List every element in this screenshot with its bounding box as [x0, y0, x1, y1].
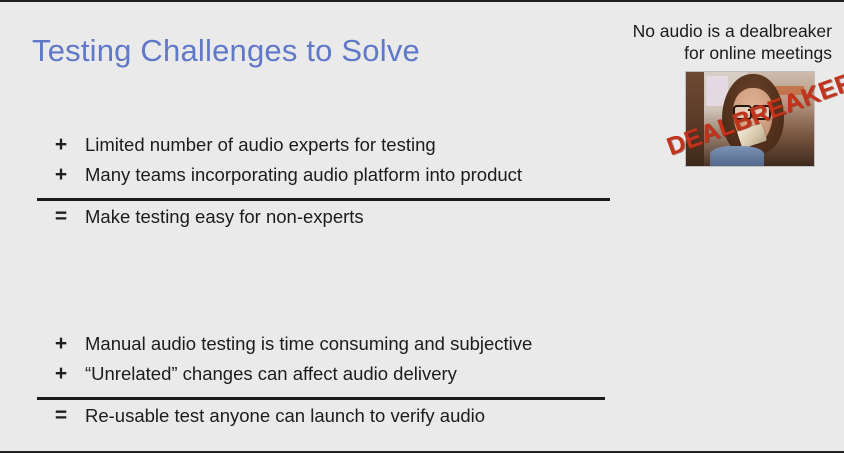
dealbreaker-photo-block: DEALBREAKER	[686, 72, 814, 166]
caption-line-1: No audio is a dealbreaker	[532, 20, 832, 42]
equation-row: + “Unrelated” changes can affect audio d…	[37, 362, 605, 392]
equation-result-row: = Make testing easy for non-experts	[37, 205, 610, 235]
plus-operator-icon: +	[37, 163, 85, 187]
plus-operator-icon: +	[37, 362, 85, 386]
caption-line-2: for online meetings	[532, 42, 832, 64]
plus-operator-icon: +	[37, 133, 85, 157]
challenge-equation-1: + Limited number of audio experts for te…	[37, 133, 610, 235]
equation-row-text: Many teams incorporating audio platform …	[85, 164, 522, 186]
equation-result-row: = Re-usable test anyone can launch to ve…	[37, 404, 605, 434]
plus-operator-icon: +	[37, 332, 85, 356]
equation-divider	[37, 397, 605, 400]
equation-row: + Limited number of audio experts for te…	[37, 133, 610, 163]
photo-shoulder	[710, 146, 764, 166]
woman-with-glasses-photo	[686, 72, 814, 166]
equation-divider	[37, 198, 610, 201]
presentation-slide: Testing Challenges to Solve No audio is …	[0, 0, 844, 453]
equals-operator-icon: =	[37, 404, 85, 428]
equation-row-text: “Unrelated” changes can affect audio del…	[85, 363, 457, 385]
challenge-equation-2: + Manual audio testing is time consuming…	[37, 332, 605, 434]
equation-row-text: Limited number of audio experts for test…	[85, 134, 436, 156]
glasses-bridge-icon	[748, 109, 752, 111]
glasses-right-lens-icon	[752, 105, 771, 120]
equation-row: + Manual audio testing is time consuming…	[37, 332, 605, 362]
equation-row-text: Manual audio testing is time consuming a…	[85, 333, 532, 355]
equation-result-text: Re-usable test anyone can launch to veri…	[85, 405, 485, 427]
page-title: Testing Challenges to Solve	[32, 33, 420, 69]
caption-text: No audio is a dealbreaker for online mee…	[532, 20, 832, 64]
equation-result-text: Make testing easy for non-experts	[85, 206, 364, 228]
equals-operator-icon: =	[37, 205, 85, 229]
glasses-left-lens-icon	[733, 105, 752, 120]
equation-row: + Many teams incorporating audio platfor…	[37, 163, 610, 193]
photo-background-left	[686, 72, 704, 166]
